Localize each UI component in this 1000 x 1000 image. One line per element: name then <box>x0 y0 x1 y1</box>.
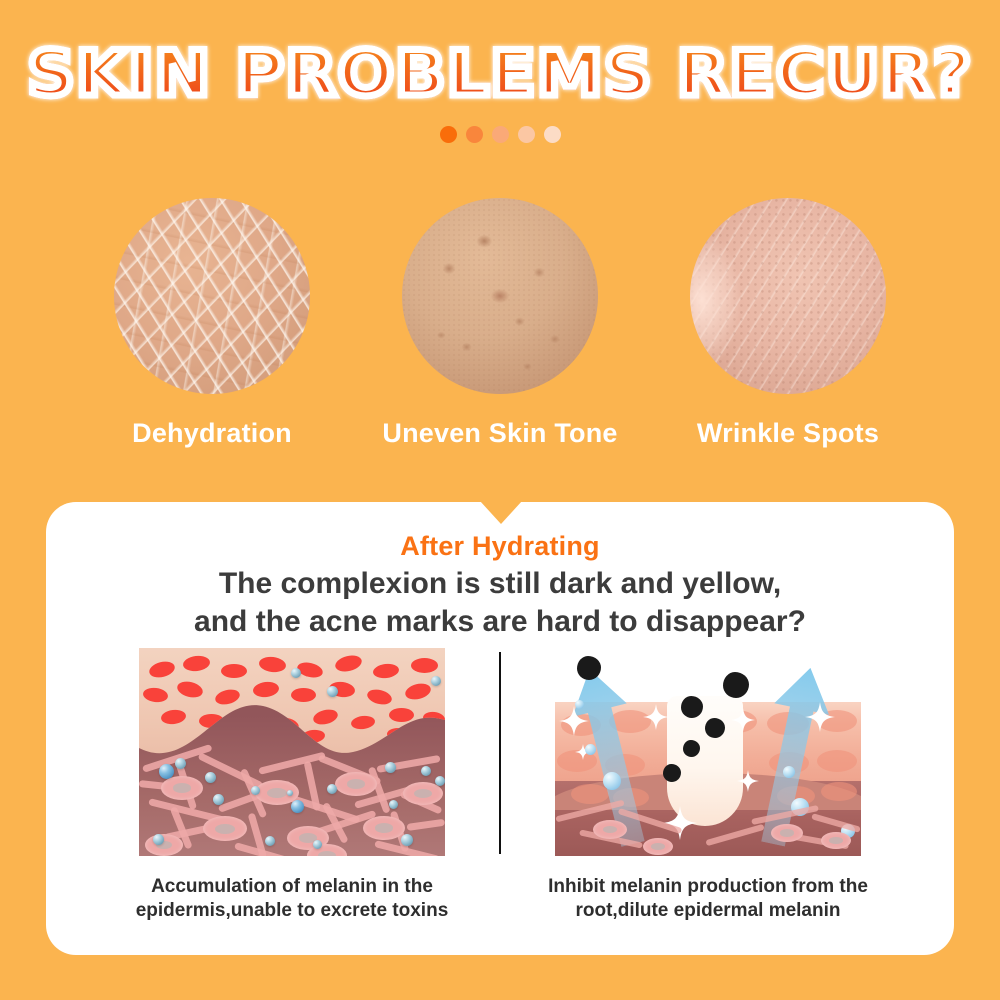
fibroblast-cell <box>203 816 247 841</box>
melanin-inhibition-pore-diagram <box>555 648 861 856</box>
epidermis-cell <box>821 782 857 801</box>
dry-cracked-skin-closeup <box>114 198 310 394</box>
card-notch-triangle <box>480 501 522 524</box>
progress-dot-3 <box>492 126 509 143</box>
progress-dot-4 <box>518 126 535 143</box>
sparkle-icon <box>559 706 589 736</box>
impurity-particle <box>683 740 700 757</box>
panel-melanin-inhibition: Inhibit melanin production from the root… <box>513 648 903 923</box>
panel-caption-right: Inhibit melanin production from the root… <box>528 875 888 923</box>
fibroblast-cell <box>161 776 203 800</box>
spotted-skin-closeup <box>402 198 598 394</box>
hydration-molecule <box>265 836 275 846</box>
card-headline: The complexion is still dark and yellow,… <box>46 565 954 641</box>
page-title: SKIN PROBLEMS RECUR? <box>0 38 1000 110</box>
sparkle-icon <box>643 704 669 730</box>
skin-problem-gallery: DehydrationUneven Skin ToneWrinkle Spots <box>0 198 1000 473</box>
fibroblast-cell <box>145 834 183 856</box>
headline-line-2: and the acne marks are hard to disappear… <box>46 603 954 641</box>
impurity-particle <box>681 696 703 718</box>
hydration-molecule <box>251 786 260 795</box>
hydration-molecule <box>421 766 431 776</box>
collagen-network <box>139 648 445 856</box>
panel-melanin-accumulation: Accumulation of melanin in the epidermis… <box>97 648 487 923</box>
hydration-molecule <box>153 834 164 845</box>
skin-problem-item-3: Wrinkle Spots <box>688 198 888 449</box>
hydration-molecule <box>327 686 338 697</box>
fibroblast-cell <box>593 820 627 839</box>
panel-divider <box>499 652 501 854</box>
impurity-particle <box>723 672 749 698</box>
hydration-molecule <box>327 784 337 794</box>
impurity-particle <box>705 718 725 738</box>
fibroblast-cell <box>335 772 377 796</box>
hydration-molecule <box>783 766 795 778</box>
hydration-molecule <box>431 676 441 686</box>
comparison-panels: Accumulation of melanin in the epidermis… <box>46 648 954 938</box>
hydration-molecule <box>603 772 621 790</box>
wrinkled-pore-skin-closeup <box>690 198 886 394</box>
hydration-molecule <box>291 668 301 678</box>
fibroblast-cell <box>821 832 851 849</box>
hydration-molecule <box>575 700 584 709</box>
melanin-accumulation-diagram <box>139 648 445 856</box>
after-hydrating-label: After Hydrating <box>46 531 954 562</box>
sparkle-icon <box>731 708 755 732</box>
fibroblast-cell <box>363 816 405 840</box>
hydration-molecule <box>585 744 596 755</box>
epidermis-cell <box>817 750 857 772</box>
caption-left-line-1: Accumulation of melanin in the <box>151 876 433 897</box>
hydration-molecule <box>389 800 398 809</box>
collagen-fiber <box>258 752 326 775</box>
caption-right-line-1: Inhibit melanin production from the <box>548 876 868 897</box>
impurity-particle <box>663 764 681 782</box>
collagen-fiber <box>407 819 445 831</box>
hydration-molecule <box>205 772 216 783</box>
skin-problem-item-1: Dehydration <box>112 198 312 449</box>
progress-dot-5 <box>544 126 561 143</box>
headline-line-1: The complexion is still dark and yellow, <box>46 565 954 603</box>
dot-indicator-row <box>0 126 1000 143</box>
hydration-molecule <box>213 794 224 805</box>
skin-problem-item-2: Uneven Skin Tone <box>400 198 600 449</box>
progress-dot-2 <box>466 126 483 143</box>
header: SKIN PROBLEMS RECUR? <box>0 0 1000 175</box>
after-hydrating-card: After Hydrating The complexion is still … <box>46 502 954 955</box>
hydration-molecule <box>385 762 396 773</box>
hydration-molecule <box>291 800 304 813</box>
skin-problem-label-1: Dehydration <box>132 418 292 449</box>
hydration-molecule <box>401 834 413 846</box>
sparkle-icon <box>737 770 759 792</box>
hydration-molecule <box>159 764 174 779</box>
fibroblast-cell <box>771 824 803 842</box>
sparkle-icon <box>805 702 835 732</box>
caption-right-line-2: root,dilute epidermal melanin <box>576 900 841 921</box>
skin-problem-label-2: Uneven Skin Tone <box>382 418 617 449</box>
skin-problem-label-3: Wrinkle Spots <box>697 418 879 449</box>
fibroblast-cell <box>643 838 673 855</box>
hydration-molecule <box>175 758 186 769</box>
hydration-molecule <box>287 790 293 796</box>
impurity-particle <box>577 656 601 680</box>
panel-caption-left: Accumulation of melanin in the epidermis… <box>112 875 472 923</box>
progress-dot-1 <box>440 126 457 143</box>
hydration-molecule <box>313 840 322 849</box>
hydration-molecule <box>435 776 445 786</box>
caption-left-line-2: epidermis,unable to excrete toxins <box>136 900 449 921</box>
